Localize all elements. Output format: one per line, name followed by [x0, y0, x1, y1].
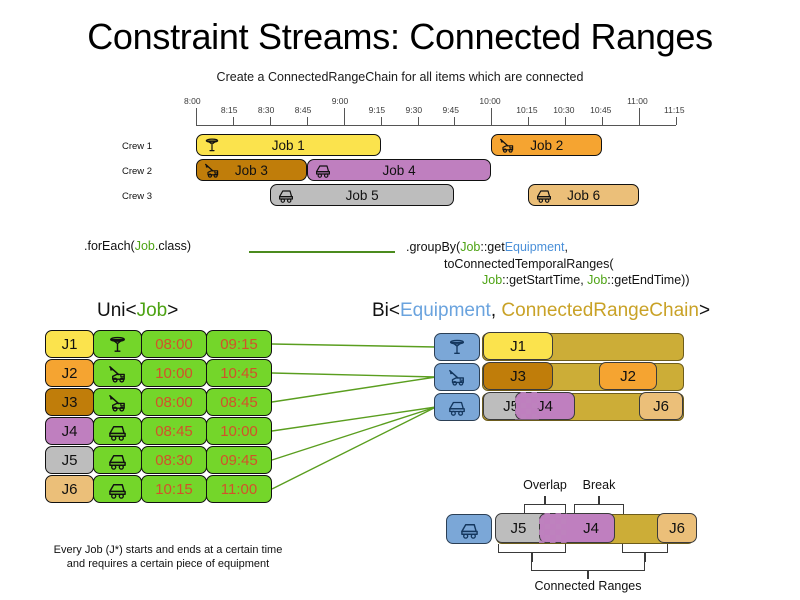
job-equipment-cell — [93, 359, 142, 387]
timeline-tick-label: 9:30 — [406, 105, 423, 115]
connector-line — [272, 407, 436, 489]
job-equipment-cell — [93, 330, 142, 358]
timeline-tick-mark — [418, 117, 419, 125]
table-row[interactable]: J308:0008:45 — [45, 388, 273, 416]
range-brace-right-stem — [644, 552, 646, 562]
timeline-tick-mark — [270, 117, 271, 125]
detail-segment-j6-label: J6 — [669, 520, 685, 537]
crane-truck-icon — [204, 162, 220, 178]
timeline-tick-label: 9:15 — [369, 105, 386, 115]
code-groupby-pre: .groupBy( — [406, 240, 460, 254]
chain-segment-label: J6 — [653, 398, 669, 415]
detail-segment-j6[interactable]: J6 — [657, 513, 697, 543]
job-start-cell: 08:45 — [141, 417, 207, 445]
gantt-bar[interactable]: Job 4 — [307, 159, 492, 181]
page-subtitle: Create a ConnectedRangeChain for all ite… — [0, 70, 800, 84]
crew-label: Crew 3 — [122, 191, 152, 202]
code-foreach-type: Job — [135, 239, 155, 253]
timeline-tick-mark — [639, 108, 640, 125]
job-id-cell: J4 — [45, 417, 94, 445]
bi-heading-chain: ConnectedRangeChain — [501, 300, 699, 321]
dump-truck-icon — [278, 187, 294, 203]
bi-heading-post: > — [699, 300, 710, 321]
timeline-tick-label: 10:30 — [553, 105, 574, 115]
job-id-cell: J1 — [45, 330, 94, 358]
code-foreach: .forEach(Job.class) — [84, 239, 191, 253]
connected-ranges-stem — [587, 570, 589, 579]
footnote: Every Job (J*) starts and ends at a cert… — [8, 543, 328, 571]
job-equipment-cell — [93, 417, 142, 445]
timeline-tick-label: 10:00 — [479, 96, 500, 106]
timeline-tick-label: 8:30 — [258, 105, 275, 115]
connector-line — [272, 344, 436, 347]
uni-heading-post: > — [167, 300, 178, 321]
chain-segment-label: J1 — [510, 338, 526, 355]
chain-segment-label: J4 — [537, 398, 553, 415]
job-start-cell: 08:00 — [141, 330, 207, 358]
gantt-bar[interactable]: Job 1 — [196, 134, 381, 156]
code-groupby-job: Job — [460, 240, 480, 254]
timeline-tick-mark — [307, 117, 308, 125]
code-toconnected: toConnectedTemporalRanges( — [406, 257, 614, 271]
job-id-cell: J6 — [45, 475, 94, 503]
chain-segment[interactable]: J6 — [639, 392, 683, 420]
crane-truck-icon — [108, 364, 127, 383]
timeline-tick-label: 9:45 — [442, 105, 459, 115]
job-end-cell: 10:45 — [206, 359, 272, 387]
job-end-cell: 11:00 — [206, 475, 272, 503]
timeline-tick-label: 8:45 — [295, 105, 312, 115]
job-equipment-cell — [93, 446, 142, 474]
crane-truck-icon — [448, 368, 466, 386]
footnote-line-1: Every Job (J*) starts and ends at a cert… — [8, 543, 328, 557]
timeline-tick-mark — [196, 108, 197, 125]
gantt-chart: 8:008:158:308:459:009:159:309:4510:0010:… — [0, 96, 800, 222]
gantt-bar[interactable]: Job 2 — [491, 134, 602, 156]
timeline-tick-mark — [491, 108, 492, 125]
chain-segment-label: J3 — [510, 368, 526, 385]
connector-line — [272, 377, 436, 402]
uni-heading-type: Job — [137, 300, 168, 321]
detail-segment-j4-label: J4 — [583, 520, 599, 537]
table-row[interactable]: J108:0009:15 — [45, 330, 273, 358]
job-start-cell: 10:00 — [141, 359, 207, 387]
job-start-cell: 10:15 — [141, 475, 207, 503]
chain-row[interactable]: J3J2 — [434, 363, 684, 391]
chain-segment[interactable]: J1 — [483, 332, 553, 360]
code-job-end: Job — [587, 273, 607, 287]
chain-equipment-box — [434, 363, 480, 391]
code-groupby-equipment: Equipment — [505, 240, 565, 254]
page-title: Constraint Streams: Connected Ranges — [0, 16, 800, 58]
timeline-tick-mark — [454, 117, 455, 125]
timeline-tick-label: 11:00 — [627, 96, 648, 106]
gantt-bar-label: Job 4 — [308, 163, 491, 178]
chain-segment-label: J2 — [620, 368, 636, 385]
break-label: Break — [567, 478, 631, 492]
gantt-bar-icon — [202, 137, 222, 153]
break-brace-stem — [598, 496, 600, 505]
table-row[interactable]: J610:1511:00 — [45, 475, 273, 503]
code-groupby-comma: , — [564, 240, 567, 254]
bi-heading-equipment: Equipment — [400, 300, 491, 321]
dump-truck-icon — [448, 398, 466, 416]
footnote-line-2: and requires a certain piece of equipmen… — [8, 557, 328, 571]
job-start-cell: 08:00 — [141, 388, 207, 416]
table-row[interactable]: J508:3009:45 — [45, 446, 273, 474]
connected-range-chain: J1 — [482, 333, 684, 361]
gantt-bar-icon — [202, 162, 222, 178]
timeline-tick-mark — [565, 117, 566, 125]
dump-truck-icon — [315, 162, 331, 178]
timeline-axis — [196, 125, 676, 126]
code-groupby: .groupBy(Job::getEquipment, toConnectedT… — [406, 239, 690, 289]
bi-heading-comma: , — [491, 300, 502, 321]
job-id-cell: J2 — [45, 359, 94, 387]
crane-truck-icon — [499, 137, 515, 153]
gantt-bar-label: Job 5 — [271, 188, 454, 203]
dump-truck-icon — [108, 451, 127, 470]
connector-line — [272, 407, 436, 431]
bi-chain-list: J1J3J2J5J4J6 — [434, 333, 684, 423]
crew-label: Crew 2 — [122, 166, 152, 177]
gantt-bar-icon — [276, 187, 296, 203]
bi-heading-pre: Bi< — [372, 300, 400, 321]
code-getendtime: ::getEndTime)) — [607, 273, 689, 287]
job-equipment-cell — [93, 475, 142, 503]
job-start-cell: 08:30 — [141, 446, 207, 474]
code-foreach-post: .class) — [155, 239, 191, 253]
timeline-tick-mark — [528, 117, 529, 125]
gantt-bar[interactable]: Job 3 — [196, 159, 307, 181]
break-brace — [574, 504, 624, 514]
connector-line — [272, 407, 436, 460]
drill-icon — [448, 338, 466, 356]
dump-truck-icon — [108, 422, 127, 441]
chain-segment[interactable]: J3 — [483, 362, 553, 390]
connector-line — [272, 373, 436, 377]
timeline-tick-mark — [381, 117, 382, 125]
code-arrow — [249, 251, 395, 253]
crew-label: Crew 1 — [122, 141, 152, 152]
timeline-tick-mark — [676, 117, 677, 125]
crane-truck-icon — [108, 393, 127, 412]
job-end-cell: 08:45 — [206, 388, 272, 416]
code-getstarttime: ::getStartTime, — [502, 273, 587, 287]
detail-chain: J5J4J6 — [496, 514, 694, 544]
timeline-tick-mark — [233, 117, 234, 125]
timeline-tick-mark — [602, 117, 603, 125]
connected-ranges-label: Connected Ranges — [508, 579, 668, 593]
connected-range-chain: J3J2 — [482, 363, 684, 391]
job-id-cell: J3 — [45, 388, 94, 416]
chain-equipment-box — [434, 393, 480, 421]
timeline-tick-label: 8:15 — [221, 105, 238, 115]
bi-heading: Bi<Equipment, ConnectedRangeChain> — [372, 300, 710, 322]
timeline-tick-label: 9:00 — [332, 96, 349, 106]
chain-segment[interactable]: J2 — [599, 362, 657, 390]
dump-truck-icon — [536, 187, 552, 203]
table-row[interactable]: J210:0010:45 — [45, 359, 273, 387]
timeline-tick-label: 10:15 — [516, 105, 537, 115]
code-foreach-pre: .forEach( — [84, 239, 135, 253]
code-groupby-mid: ::get — [480, 240, 504, 254]
drill-icon — [108, 335, 127, 354]
job-end-cell: 09:45 — [206, 446, 272, 474]
gantt-bar-label: Job 1 — [197, 138, 380, 153]
job-equipment-cell — [93, 388, 142, 416]
gantt-bar-icon — [497, 137, 517, 153]
detail-overlap-hatch — [539, 513, 567, 543]
gantt-bar[interactable]: Job 5 — [270, 184, 455, 206]
gantt-bar-icon — [313, 162, 333, 178]
detail-equipment-box — [446, 514, 492, 544]
overlap-brace — [524, 504, 566, 514]
range-brace-left-stem — [531, 552, 533, 562]
uni-job-table: J108:0009:15J210:0010:45J308:0008:45J408… — [45, 330, 273, 504]
overlap-hatch — [515, 392, 539, 420]
table-row[interactable]: J408:4510:00 — [45, 417, 273, 445]
job-end-cell: 09:15 — [206, 330, 272, 358]
job-end-cell: 10:00 — [206, 417, 272, 445]
dump-truck-icon — [460, 520, 479, 539]
code-job-start: Job — [406, 273, 502, 287]
drill-icon — [204, 137, 220, 153]
detail-segment-j5-label: J5 — [510, 520, 526, 537]
uni-heading: Uni<Job> — [97, 300, 178, 322]
job-id-cell: J5 — [45, 446, 94, 474]
timeline-tick-label: 11:15 — [664, 105, 685, 115]
timeline-tick-label: 10:45 — [590, 105, 611, 115]
timeline-tick-mark — [344, 108, 345, 125]
connected-range-chain: J5J4J6 — [482, 393, 684, 421]
timeline-tick-label: 8:00 — [184, 96, 201, 106]
dump-truck-icon — [108, 480, 127, 499]
chain-equipment-box — [434, 333, 480, 361]
chain-row[interactable]: J1 — [434, 333, 684, 361]
gantt-bar[interactable]: Job 6 — [528, 184, 639, 206]
uni-heading-pre: Uni< — [97, 300, 137, 321]
overlap-brace-stem — [544, 496, 546, 505]
chain-row[interactable]: J5J4J6 — [434, 393, 684, 421]
gantt-bar-icon — [534, 187, 554, 203]
